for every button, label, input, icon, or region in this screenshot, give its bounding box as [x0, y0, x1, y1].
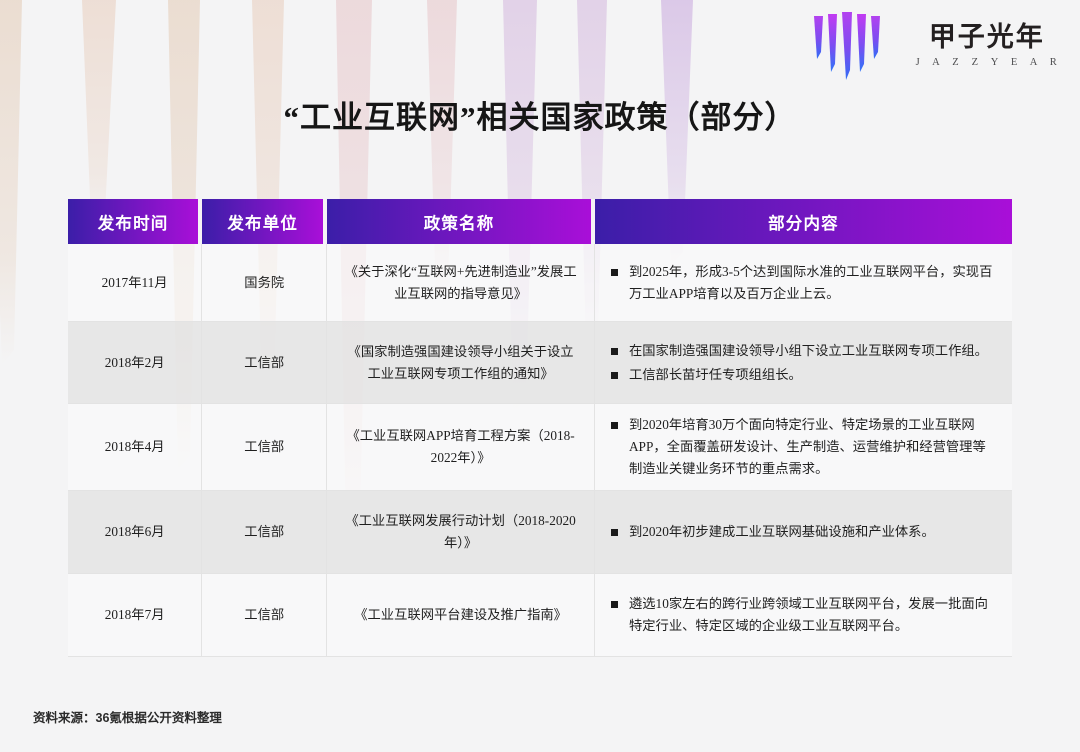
cell-policy: 《工业互联网发展行动计划（2018-2020年）》 [327, 491, 595, 574]
cell-policy: 《国家制造强国建设领导小组关于设立工业互联网专项工作组的通知》 [327, 322, 595, 404]
cell-policy: 《工业互联网平台建设及推广指南》 [327, 574, 595, 657]
column-header-date: 发布时间 [68, 199, 202, 244]
cell-content: 到2020年培育30万个面向特定行业、特定场景的工业互联网APP，全面覆盖研发设… [595, 404, 1012, 491]
page-title: “工业互联网”相关国家政策（部分） [0, 92, 1080, 137]
brand-logo: 甲子光年 J A Z Z Y E A R [806, 12, 1062, 80]
content-bullet-list: 遴选10家左右的跨行业跨领域工业互联网平台，发展一批面向特定行业、特定区域的企业… [609, 593, 998, 637]
source-note: 资料来源：36氪根据公开资料整理 [33, 707, 222, 726]
content-bullet: 到2020年培育30万个面向特定行业、特定场景的工业互联网APP，全面覆盖研发设… [609, 414, 998, 480]
cell-content: 到2020年初步建成工业互联网基础设施和产业体系。 [595, 491, 1012, 574]
cell-unit: 工信部 [202, 491, 327, 574]
cell-unit: 国务院 [202, 244, 327, 322]
cell-policy: 《工业互联网APP培育工程方案（2018-2022年）》 [327, 404, 595, 491]
content-bullet: 在国家制造强国建设领导小组下设立工业互联网专项工作组。 [609, 340, 998, 362]
table-header-row: 发布时间 发布单位 政策名称 部分内容 [68, 199, 1012, 244]
policy-table: 发布时间 发布单位 政策名称 部分内容 2017年11月 国务院 《关于深化“互… [68, 199, 1012, 657]
column-header-content: 部分内容 [595, 199, 1012, 244]
cell-date: 2018年7月 [68, 574, 202, 657]
table-header: 发布时间 发布单位 政策名称 部分内容 [68, 199, 1012, 244]
cell-unit: 工信部 [202, 322, 327, 404]
cell-content: 在国家制造强国建设领导小组下设立工业互联网专项工作组。 工信部长苗圩任专项组组长… [595, 322, 1012, 404]
column-header-unit: 发布单位 [202, 199, 327, 244]
column-header-policy: 政策名称 [327, 199, 595, 244]
cell-date: 2018年2月 [68, 322, 202, 404]
cell-date: 2017年11月 [68, 244, 202, 322]
table-row: 2018年6月 工信部 《工业互联网发展行动计划（2018-2020年）》 到2… [68, 491, 1012, 574]
content-bullet: 工信部长苗圩任专项组组长。 [609, 364, 998, 386]
brand-wordmark: 甲子光年 J A Z Z Y E A R [912, 24, 1062, 69]
cell-unit: 工信部 [202, 574, 327, 657]
cell-content: 遴选10家左右的跨行业跨领域工业互联网平台，发展一批面向特定行业、特定区域的企业… [595, 574, 1012, 657]
brand-name-cn: 甲子光年 [929, 24, 1045, 51]
brand-name-en: J A Z Z Y E A R [916, 58, 1062, 69]
table-row: 2018年4月 工信部 《工业互联网APP培育工程方案（2018-2022年）》… [68, 404, 1012, 491]
jazzyear-crown-icon [806, 12, 898, 80]
content-bullet: 遴选10家左右的跨行业跨领域工业互联网平台，发展一批面向特定行业、特定区域的企业… [609, 593, 998, 637]
content-bullet: 到2020年初步建成工业互联网基础设施和产业体系。 [609, 521, 998, 543]
table-row: 2018年2月 工信部 《国家制造强国建设领导小组关于设立工业互联网专项工作组的… [68, 322, 1012, 404]
cell-date: 2018年4月 [68, 404, 202, 491]
cell-date: 2018年6月 [68, 491, 202, 574]
cell-unit: 工信部 [202, 404, 327, 491]
cell-policy: 《关于深化“互联网+先进制造业”发展工业互联网的指导意见》 [327, 244, 595, 322]
cell-content: 到2025年，形成3-5个达到国际水准的工业互联网平台，实现百万工业APP培育以… [595, 244, 1012, 322]
content-bullet-list: 在国家制造强国建设领导小组下设立工业互联网专项工作组。 工信部长苗圩任专项组组长… [609, 340, 998, 386]
table-body: 2017年11月 国务院 《关于深化“互联网+先进制造业”发展工业互联网的指导意… [68, 244, 1012, 657]
content-bullet: 到2025年，形成3-5个达到国际水准的工业互联网平台，实现百万工业APP培育以… [609, 261, 998, 305]
table-row: 2017年11月 国务院 《关于深化“互联网+先进制造业”发展工业互联网的指导意… [68, 244, 1012, 322]
table-row: 2018年7月 工信部 《工业互联网平台建设及推广指南》 遴选10家左右的跨行业… [68, 574, 1012, 657]
content-bullet-list: 到2025年，形成3-5个达到国际水准的工业互联网平台，实现百万工业APP培育以… [609, 261, 998, 305]
content-bullet-list: 到2020年初步建成工业互联网基础设施和产业体系。 [609, 521, 998, 543]
content-bullet-list: 到2020年培育30万个面向特定行业、特定场景的工业互联网APP，全面覆盖研发设… [609, 414, 998, 480]
